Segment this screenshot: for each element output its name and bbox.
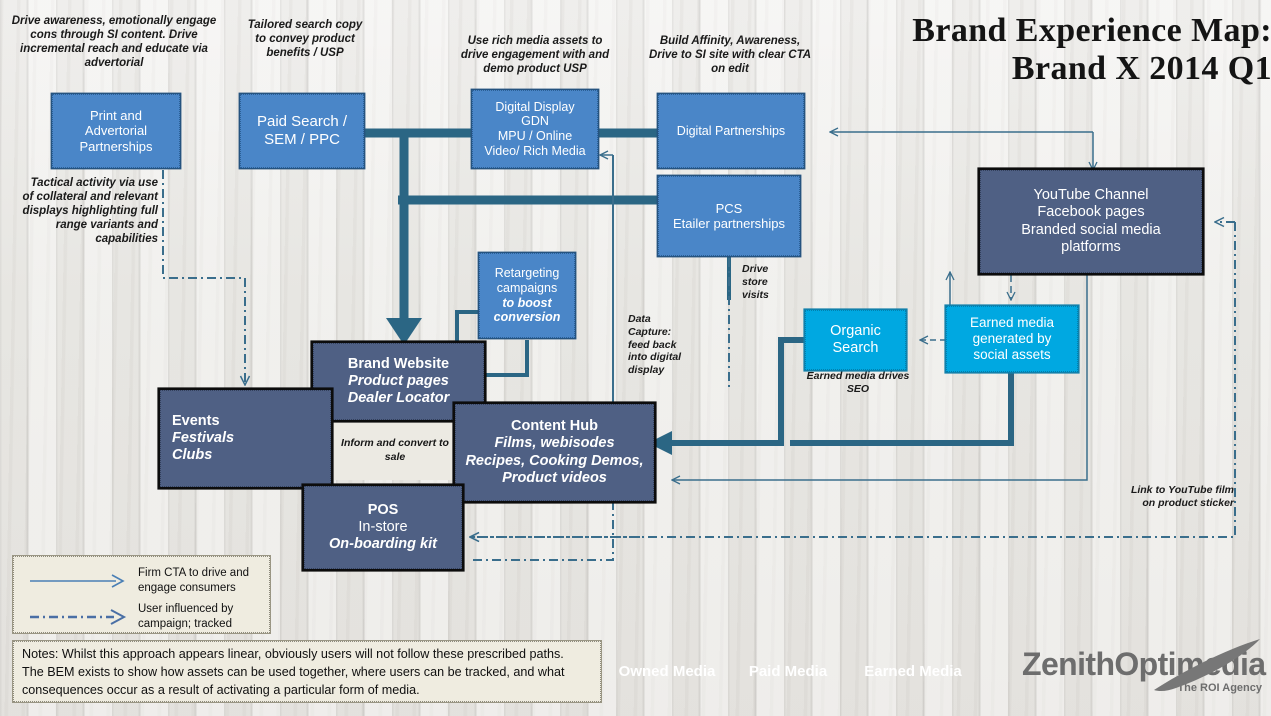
node-line: Recipes, Cooking Demos, bbox=[465, 453, 643, 470]
brand-experience-map-canvas: Drive awareness, emotionally engage cons… bbox=[0, 0, 1271, 716]
annotation-earned-drives-seo: Earned media drives SEO bbox=[806, 370, 910, 396]
node-line: In-store bbox=[358, 519, 407, 536]
node-line: Product videos bbox=[502, 470, 607, 487]
notes-line: The BEM exists to show how assets can be… bbox=[22, 664, 596, 682]
key-paid-media[interactable]: Paid Media bbox=[734, 643, 842, 699]
legend-solid-label: Firm CTA to drive and engage consumers bbox=[138, 566, 249, 595]
node-line: YouTube Channel bbox=[1033, 187, 1148, 204]
node-line: Product pages bbox=[348, 373, 449, 390]
node-events[interactable]: Events Festivals Clubs bbox=[160, 390, 331, 487]
legend-label-line: Firm CTA to drive and bbox=[138, 566, 249, 581]
node-digital-display[interactable]: Digital Display GDN MPU / Online Video/ … bbox=[472, 90, 598, 168]
key-label: Owned Media bbox=[619, 663, 716, 680]
swoosh-icon bbox=[1148, 636, 1266, 692]
node-line: Organic bbox=[830, 323, 881, 340]
key-label: Earned Media bbox=[864, 663, 962, 680]
node-line: Advertorial bbox=[85, 123, 147, 138]
annotation-print-top: Drive awareness, emotionally engage cons… bbox=[10, 14, 218, 70]
node-line: Events bbox=[172, 413, 220, 430]
node-line: Branded social media bbox=[1021, 222, 1160, 239]
node-print-advertorial-partnerships[interactable]: Print and Advertorial Partnerships bbox=[52, 94, 180, 168]
key-owned-media[interactable]: Owned Media bbox=[608, 643, 726, 699]
node-pcs-etailer-partnerships[interactable]: PCS Etailer partnerships bbox=[658, 176, 800, 256]
node-line: Brand Website bbox=[348, 356, 449, 373]
node-line: Digital Display bbox=[495, 100, 574, 115]
legend-item-solid: Firm CTA to drive and engage consumers bbox=[28, 564, 263, 598]
node-line: GDN bbox=[521, 114, 549, 129]
annotation-inform-convert-panel: Inform and convert to sale bbox=[330, 422, 460, 480]
node-line: Video/ Rich Media bbox=[484, 144, 585, 159]
node-line: platforms bbox=[1061, 239, 1121, 256]
notes-line: Notes: Whilst this approach appears line… bbox=[22, 646, 596, 664]
legend-label-line: campaign; tracked bbox=[138, 617, 233, 632]
node-line: Earned media bbox=[970, 315, 1054, 331]
node-line: Digital Partnerships bbox=[677, 124, 785, 139]
node-line: Paid Search / bbox=[257, 113, 347, 131]
node-earned-media-social-assets[interactable]: Earned media generated by social assets bbox=[946, 306, 1078, 372]
notes-text: Notes: Whilst this approach appears line… bbox=[22, 646, 596, 700]
node-line: On-boarding kit bbox=[329, 536, 437, 553]
node-line: Etailer partnerships bbox=[673, 216, 785, 231]
arrowhead-brand-website bbox=[386, 318, 422, 345]
legend-label-line: engage consumers bbox=[138, 581, 249, 596]
page-title-line1: Brand Experience Map: bbox=[780, 12, 1271, 50]
node-line: Search bbox=[833, 340, 879, 357]
key-label: Paid Media bbox=[749, 663, 827, 680]
annotation-drive-store-visits: Drive store visits bbox=[742, 263, 790, 301]
node-line: conversion bbox=[494, 310, 561, 325]
node-youtube-facebook-social[interactable]: YouTube Channel Facebook pages Branded s… bbox=[980, 170, 1202, 273]
link-print-to-events bbox=[163, 170, 245, 385]
zenithoptimedia-logo: ZenithOptimedia The ROI Agency bbox=[1022, 648, 1262, 694]
node-line: Print and bbox=[90, 108, 142, 123]
node-line: Clubs bbox=[172, 447, 212, 464]
annotation-print-bottom: Tactical activity via use of collateral … bbox=[18, 176, 158, 246]
node-line: Partnerships bbox=[80, 139, 153, 154]
node-line: Festivals bbox=[172, 430, 234, 447]
node-line: campaigns bbox=[497, 281, 557, 296]
link-retargeting-to-website-out bbox=[483, 340, 527, 375]
node-line: Dealer Locator bbox=[348, 390, 450, 407]
annotation-paid-search-top: Tailored search copy to convey product b… bbox=[246, 18, 364, 60]
node-line: Retargeting bbox=[495, 266, 560, 281]
legend-dashdot-arrow-icon bbox=[28, 608, 128, 626]
node-line: social assets bbox=[973, 347, 1050, 363]
annotation-data-capture: Data Capture: feed back into digital dis… bbox=[628, 313, 688, 377]
page-title-line2: Brand X 2014 Q1 bbox=[780, 50, 1271, 88]
link-organic-to-contenthub bbox=[672, 340, 805, 443]
node-line: Facebook pages bbox=[1037, 204, 1144, 221]
node-retargeting-campaigns[interactable]: Retargeting campaigns to boost conversio… bbox=[479, 253, 575, 338]
key-earned-media[interactable]: Earned Media bbox=[850, 643, 976, 699]
node-line: PCS bbox=[716, 201, 743, 216]
node-paid-search-sem-ppc[interactable]: Paid Search / SEM / PPC bbox=[240, 94, 364, 168]
node-line: generated by bbox=[973, 331, 1052, 347]
legend-label-line: User influenced by bbox=[138, 602, 233, 617]
annotation-link-to-youtube: Link to YouTube film on product sticker bbox=[1130, 484, 1234, 510]
node-line: Content Hub bbox=[511, 418, 598, 435]
node-pos-in-store[interactable]: POS In-store On-boarding kit bbox=[304, 486, 462, 569]
page-title: Brand Experience Map: Brand X 2014 Q1 bbox=[780, 12, 1271, 88]
node-line: to boost bbox=[502, 296, 551, 311]
legend-item-dashed: User influenced by campaign; tracked bbox=[28, 600, 263, 634]
node-line: SEM / PPC bbox=[264, 131, 340, 149]
node-line: MPU / Online bbox=[498, 129, 572, 144]
annotation-digital-display-top: Use rich media assets to drive engagemen… bbox=[455, 34, 615, 76]
node-digital-partnerships[interactable]: Digital Partnerships bbox=[658, 94, 804, 168]
node-line: Films, webisodes bbox=[494, 435, 614, 452]
legend-solid-arrow-icon bbox=[28, 572, 128, 590]
node-content-hub[interactable]: Content Hub Films, webisodes Recipes, Co… bbox=[455, 404, 654, 501]
annotation-inform-convert: Inform and convert to sale bbox=[330, 437, 460, 464]
node-organic-search[interactable]: Organic Search bbox=[805, 310, 906, 370]
notes-line: consequences occur as a result of activa… bbox=[22, 682, 596, 700]
node-line: POS bbox=[368, 502, 399, 519]
legend-dashed-label: User influenced by campaign; tracked bbox=[138, 602, 233, 631]
